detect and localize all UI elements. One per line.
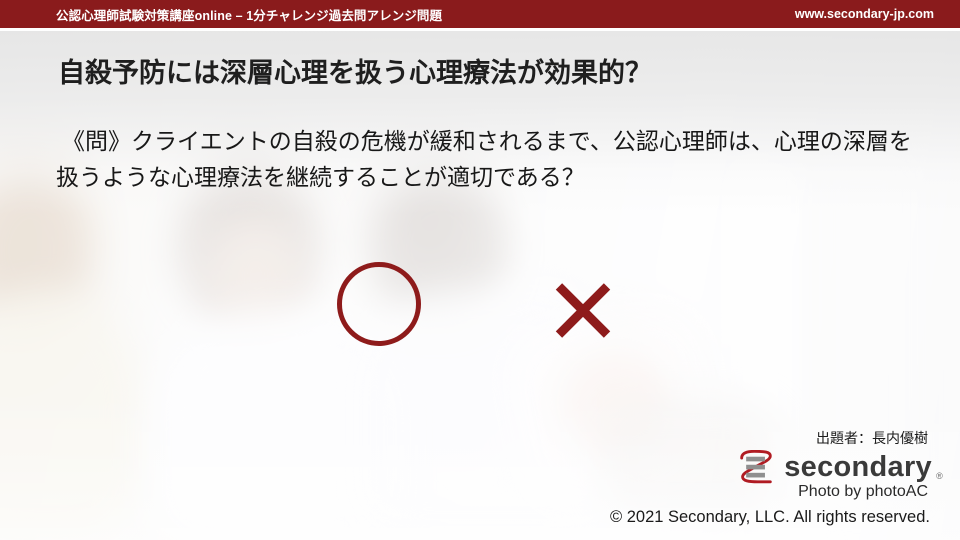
question-text: 《問》クライエントの自殺の危機が緩和されるまで、公認心理師は、心理の深層を扱うよ… <box>56 123 916 196</box>
slide-canvas: 公認心理師試験対策講座online – 1分チャレンジ過去問アレンジ問題 www… <box>0 0 960 540</box>
secondary-logo-icon <box>736 450 776 484</box>
brand-name: secondary ® <box>784 453 932 482</box>
photo-credit: Photo by photoAC <box>798 483 928 501</box>
registered-mark-icon: ® <box>936 472 943 481</box>
circle-mark-icon[interactable] <box>337 262 421 346</box>
brand-lockup: secondary ® <box>736 450 932 484</box>
cross-mark-icon[interactable] <box>551 278 615 342</box>
slide-title: 自殺予防には深層心理を扱う心理療法が効果的？ <box>58 56 908 91</box>
brand-name-text: secondary <box>784 451 932 483</box>
copyright-notice: © 2021 Secondary, LLC. All rights reserv… <box>610 508 930 527</box>
header-underline <box>0 28 960 31</box>
header-course-title: 公認心理師試験対策講座online – 1分チャレンジ過去問アレンジ問題 <box>56 0 442 28</box>
header-website-url[interactable]: www.secondary-jp.com <box>795 0 934 28</box>
author-credit: 出題者：長内優樹 <box>816 428 928 448</box>
